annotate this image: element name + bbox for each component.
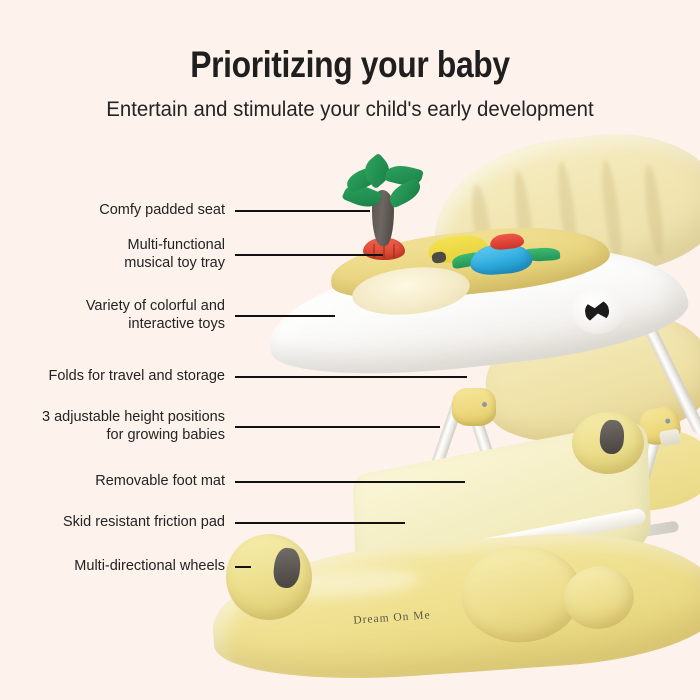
callout-label: Folds for travel and storage: [10, 368, 225, 386]
callout-leader-line: [235, 566, 251, 568]
callout-8: Multi-directional wheels: [10, 549, 251, 585]
callout-label: Multi-directional wheels: [10, 558, 225, 576]
callout-leader-line: [235, 481, 465, 483]
callout-leader-line: [235, 522, 405, 524]
callout-5: 3 adjustable height positions for growin…: [10, 409, 440, 445]
callout-label: Comfy padded seat: [10, 202, 225, 220]
callout-label: Removable foot mat: [10, 473, 225, 491]
callout-label: Skid resistant friction pad: [10, 514, 225, 532]
callout-leader-line: [235, 376, 467, 378]
callout-6: Removable foot mat: [10, 464, 465, 500]
infographic-canvas: Dream On Me Prioritizing your baby Enter…: [0, 0, 700, 700]
callout-label: Variety of colorful and interactive toys: [10, 298, 225, 333]
callout-leader-line: [235, 426, 440, 428]
callout-leader-line: [235, 254, 383, 256]
callout-7: Skid resistant friction pad: [10, 505, 405, 541]
callout-label: 3 adjustable height positions for growin…: [10, 409, 225, 444]
callout-leader-line: [235, 210, 370, 212]
callout-1: Comfy padded seat: [10, 193, 370, 229]
callout-leader-line: [235, 315, 335, 317]
callout-4: Folds for travel and storage: [10, 359, 467, 395]
callout-list: Comfy padded seatMulti-functional musica…: [0, 0, 700, 700]
callout-3: Variety of colorful and interactive toys: [10, 298, 335, 334]
callout-label: Multi-functional musical toy tray: [10, 237, 225, 272]
callout-2: Multi-functional musical toy tray: [10, 237, 383, 273]
